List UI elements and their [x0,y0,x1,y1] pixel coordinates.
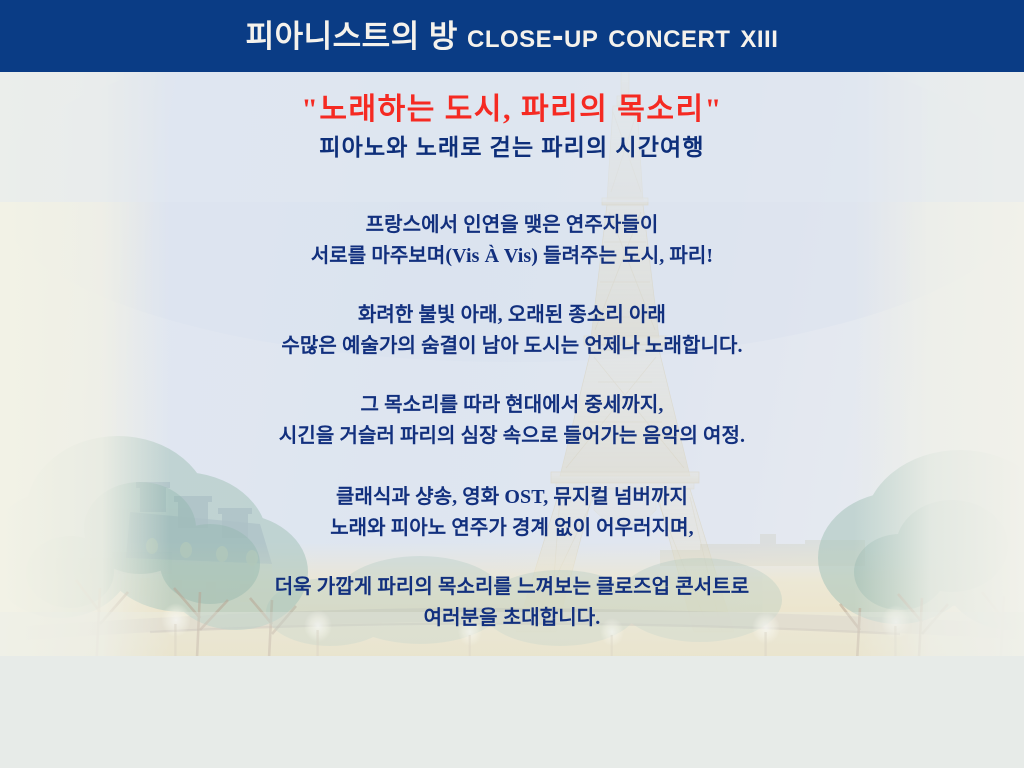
header-bar: 피아니스트의 방 Close-Up Concert XIII [0,0,1024,72]
poster-paragraph-4: 클래식과 샹송, 영화 OST, 뮤지컬 넘버까지 노래와 피아노 연주가 경계… [0,482,1024,544]
paragraph-line: 시긴을 거슬러 파리의 심장 속으로 들어가는 음악의 여정. [0,421,1024,452]
poster-text-content: "노래하는 도시, 파리의 목소리" 피아노와 노래로 걷는 파리의 시간여행 … [0,72,1024,656]
header-title-korean: 피아니스트의 방 [246,19,458,54]
header-title: 피아니스트의 방 Close-Up Concert XIII [246,19,779,53]
paragraph-line: 프랑스에서 인연을 맺은 연주자들이 [0,210,1024,241]
paragraph-line: 노래와 피아노 연주가 경계 없이 어우러지며, [0,513,1024,544]
poster-paragraph-5: 더욱 가깝게 파리의 목소리를 느껴보는 클로즈업 콘서트로 여러분을 초대합니… [0,572,1024,634]
paragraph-line: 수많은 예술가의 숨결이 남아 도시는 언제나 노래합니다. [0,331,1024,362]
lower-plain-band [0,656,1024,768]
poster-paragraph-2: 화려한 불빛 아래, 오래된 종소리 아래 수많은 예술가의 숨결이 남아 도시… [0,300,1024,362]
paragraph-line: 더욱 가깝게 파리의 목소리를 느껴보는 클로즈업 콘서트로 [0,572,1024,603]
paragraph-line: 화려한 불빛 아래, 오래된 종소리 아래 [0,300,1024,331]
paragraph-line: 여러분을 초대합니다. [0,603,1024,634]
poster-main-title: "노래하는 도시, 파리의 목소리" [0,92,1024,128]
poster-sub-title: 피아노와 노래로 걷는 파리의 시간여행 [0,134,1024,163]
paragraph-line: 그 목소리를 따라 현대에서 중세까지, [0,390,1024,421]
header-title-english: Close-Up Concert XIII [467,17,778,55]
paragraph-line: 클래식과 샹송, 영화 OST, 뮤지컬 넘버까지 [0,482,1024,513]
poster-paragraph-3: 그 목소리를 따라 현대에서 중세까지, 시긴을 거슬러 파리의 심장 속으로 … [0,390,1024,452]
poster-paragraph-1: 프랑스에서 인연을 맺은 연주자들이 서로를 마주보며(Vis À Vis) 들… [0,210,1024,272]
concert-poster-slide: 피아니스트의 방 Close-Up Concert XIII "노래하는 도시,… [0,0,1024,768]
paragraph-line: 서로를 마주보며(Vis À Vis) 들려주는 도시, 파리! [0,241,1024,272]
